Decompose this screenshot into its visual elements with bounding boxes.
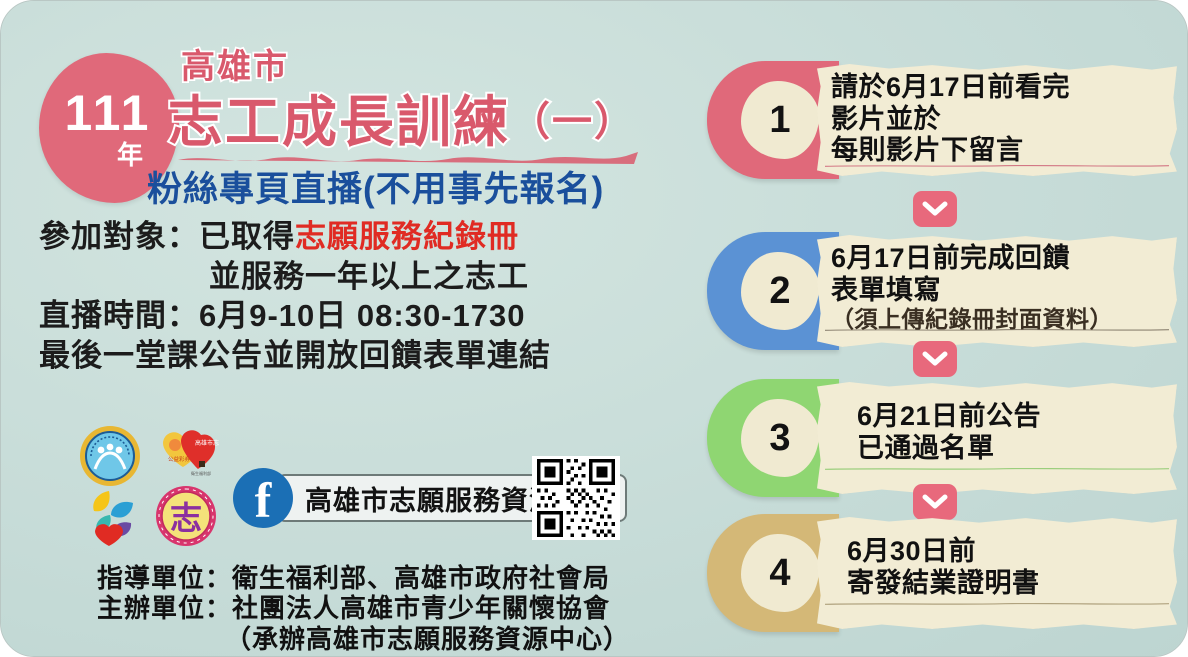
chevron-down-icon — [922, 200, 948, 218]
step-1-rule — [825, 165, 1169, 167]
svg-text:衛生福利部: 衛生福利部 — [191, 470, 211, 476]
qr-code-image — [535, 459, 617, 537]
step-card-4: 4 6月30日前 寄發結業證明書 — [707, 514, 1177, 632]
details-line-1-prefix: 參加對象：已取得 — [39, 219, 295, 254]
details-line-2: 並服務一年以上之志工 — [39, 257, 679, 297]
health-welfare-ministry-seal-icon — [79, 425, 141, 487]
step-2-line-1: 6月17日前完成回饋 — [831, 243, 1167, 275]
step-4-paper: 6月30日前 寄發結業證明書 — [817, 517, 1177, 629]
step-3-rule — [825, 468, 1169, 470]
year-badge-number: 111 — [65, 90, 152, 138]
poster-canvas: 111 年 高雄市 志工成長訓練（一） 粉絲專頁直播(不用事先報名) 參加對象：… — [0, 0, 1188, 657]
step-card-3: 3 6月21日前公告 已通過名單 — [707, 379, 1177, 497]
volunteer-zhi-seal-icon: 志 — [155, 485, 217, 547]
step-arrow-1 — [913, 191, 957, 227]
page-title-text: 志工成長訓練 — [168, 91, 510, 153]
step-4-rule — [825, 603, 1169, 605]
step-3-number-blob: 3 — [741, 399, 819, 477]
sponsor-logo-group: 高雄市志工 公益彩券 衛生福利部 志 — [79, 425, 219, 547]
step-3-number: 3 — [769, 419, 790, 457]
year-badge-unit: 年 — [117, 142, 143, 168]
details-block: 參加對象：已取得志願服務紀錄冊 並服務一年以上之志工 直播時間：6月9-10日 … — [39, 217, 679, 376]
step-4-number: 4 — [769, 554, 790, 592]
colorful-petal-heart-logo-icon — [81, 487, 143, 547]
step-4-number-blob: 4 — [741, 534, 819, 612]
step-2-rule — [825, 329, 1169, 331]
step-2-number: 2 — [769, 272, 790, 310]
details-line-1: 參加對象：已取得志願服務紀錄冊 — [39, 217, 679, 257]
footer-line-1: 指導單位：衛生福利部、高雄市政府社會局 — [97, 563, 657, 593]
step-1-line-1: 請於6月17日前看完 — [831, 72, 1167, 104]
volunteer-heart-logo-icon: 高雄市志工 公益彩券 衛生福利部 — [155, 425, 219, 485]
step-1-paper: 請於6月17日前看完 影片並於 每則影片下留言 — [817, 64, 1177, 176]
step-4-line-1: 6月30日前 — [831, 536, 1167, 568]
page-title-suffix: （一） — [510, 100, 636, 144]
step-3-line-1: 6月21日前公告 — [831, 401, 1167, 433]
step-card-1: 1 請於6月17日前看完 影片並於 每則影片下留言 — [707, 61, 1177, 179]
details-line-1-highlight: 志願服務紀錄冊 — [295, 219, 519, 254]
qr-code[interactable] — [532, 456, 620, 540]
details-line-4: 最後一堂課公告並開放回饋表單連結 — [39, 336, 679, 376]
step-2-line-2: 表單填寫 — [831, 275, 1167, 307]
step-2-paper: 6月17日前完成回饋 表單填寫 （須上傳紀錄冊封面資料） — [817, 235, 1177, 347]
svg-text:高雄市志工: 高雄市志工 — [195, 439, 219, 447]
facebook-f-icon[interactable]: f — [233, 468, 293, 528]
step-1-number-blob: 1 — [741, 81, 819, 159]
step-1-line-3: 每則影片下留言 — [831, 135, 1167, 167]
step-1-number: 1 — [769, 101, 790, 139]
svg-text:公益彩券: 公益彩券 — [168, 455, 191, 463]
step-2-number-blob: 2 — [741, 252, 819, 330]
chevron-down-icon — [922, 350, 948, 368]
svg-text:志: 志 — [170, 500, 202, 536]
step-1-line-2: 影片並於 — [831, 104, 1167, 136]
steps-column: 1 請於6月17日前看完 影片並於 每則影片下留言 — [691, 1, 1188, 657]
footer-credits: 指導單位：衛生福利部、高雄市政府社會局 主辦單位：社團法人高雄市青少年關懷協會 … — [97, 563, 657, 654]
footer-line-2: 主辦單位：社團法人高雄市青少年關懷協會 — [97, 593, 657, 623]
left-info-column: 111 年 高雄市 志工成長訓練（一） 粉絲專頁直播(不用事先報名) 參加對象：… — [1, 1, 691, 657]
step-3-paper: 6月21日前公告 已通過名單 — [817, 382, 1177, 494]
step-3-line-2: 已通過名單 — [831, 433, 1167, 465]
step-4-line-2: 寄發結業證明書 — [831, 568, 1167, 600]
step-card-2: 2 6月17日前完成回饋 表單填寫 （須上傳紀錄冊封面資料） — [707, 232, 1177, 350]
subtitle: 粉絲專頁直播(不用事先報名) — [147, 161, 604, 212]
details-line-3: 直播時間：6月9-10日 08:30-1730 — [39, 296, 679, 336]
page-title: 志工成長訓練（一） — [168, 77, 636, 157]
chevron-down-icon — [922, 493, 948, 511]
step-arrow-2 — [913, 341, 957, 377]
footer-line-3: （承辦高雄市志願服務資源中心） — [97, 624, 657, 654]
